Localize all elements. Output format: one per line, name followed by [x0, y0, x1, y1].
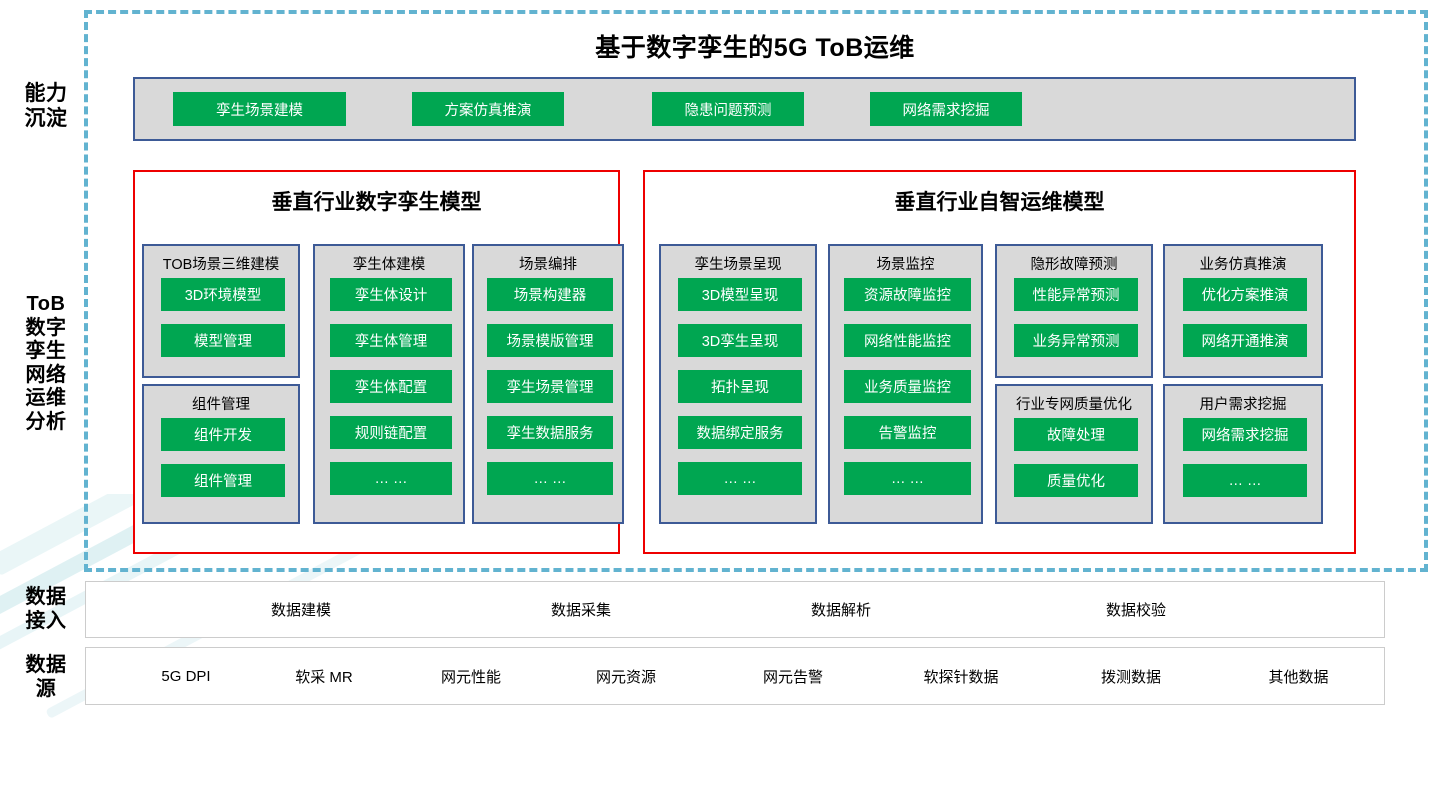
item-chip-label: … … — [1228, 473, 1261, 489]
item-chip-label: 性能异常预测 — [1033, 284, 1120, 305]
rail-line: 分析 — [12, 411, 80, 435]
group-user-demand-mining: 用户需求挖掘 网络需求挖掘 … … — [1163, 384, 1323, 524]
item-chip[interactable]: 组件开发 — [161, 418, 285, 451]
group-heading: TOB场景三维建模 — [144, 253, 298, 274]
capability-chip-label: 隐患问题预测 — [685, 99, 772, 120]
group-twin-entity-modeling: 孪生体建模 孪生体设计 孪生体管理 孪生体配置 规则链配置 … … — [313, 244, 465, 524]
group-twin-scene-presentation: 孪生场景呈现 3D模型呈现 3D孪生呈现 拓扑呈现 数据绑定服务 … … — [659, 244, 817, 524]
item-chip[interactable]: 模型管理 — [161, 324, 285, 357]
item-chip[interactable]: 业务异常预测 — [1014, 324, 1138, 357]
item-chip-label: 3D孪生呈现 — [702, 330, 779, 351]
group-scene-monitoring: 场景监控 资源故障监控 网络性能监控 业务质量监控 告警监控 … … — [828, 244, 983, 524]
rail-line: 能力 — [12, 82, 80, 107]
capability-chip-4[interactable]: 网络需求挖掘 — [870, 92, 1022, 126]
item-chip-label: 组件管理 — [194, 470, 252, 491]
data-source-cell[interactable]: 拨测数据 — [1051, 648, 1211, 704]
item-chip[interactable]: 孪生场景管理 — [487, 370, 613, 403]
group-scene-orchestration: 场景编排 场景构建器 场景模版管理 孪生场景管理 孪生数据服务 … … — [472, 244, 624, 524]
data-source-label: 软探针数据 — [923, 666, 998, 687]
rail-line: 网络 — [12, 364, 80, 388]
item-chip[interactable]: 告警监控 — [844, 416, 971, 449]
item-chip[interactable]: 优化方案推演 — [1183, 278, 1307, 311]
data-source-cell[interactable]: 软探针数据 — [876, 648, 1046, 704]
capability-chip-2[interactable]: 方案仿真推演 — [412, 92, 564, 126]
item-chip[interactable]: 3D模型呈现 — [678, 278, 802, 311]
data-source-label: 拨测数据 — [1101, 666, 1161, 687]
item-chip[interactable]: 规则链配置 — [330, 416, 452, 449]
item-chip-label: 场景模版管理 — [507, 330, 594, 351]
data-access-cell[interactable]: 数据解析 — [736, 582, 946, 637]
capability-chip-label: 孪生场景建模 — [216, 99, 303, 120]
item-chip-label: 规则链配置 — [355, 422, 428, 443]
item-chip-label: 3D环境模型 — [185, 284, 262, 305]
item-chip-label: 3D模型呈现 — [702, 284, 779, 305]
item-chip[interactable]: … … — [844, 462, 971, 495]
panel-title: 垂直行业自智运维模型 — [645, 186, 1354, 216]
item-chip-label: 资源故障监控 — [864, 284, 951, 305]
item-chip-label: 质量优化 — [1047, 470, 1105, 491]
data-source-label: 网元性能 — [441, 666, 501, 687]
group-heading: 孪生体建模 — [315, 253, 463, 274]
item-chip-label: 模型管理 — [194, 330, 252, 351]
group-heading: 场景编排 — [474, 253, 622, 274]
group-heading: 隐形故障预测 — [997, 253, 1151, 274]
item-chip-label: 孪生体配置 — [355, 376, 428, 397]
item-chip-label: 网络性能监控 — [864, 330, 951, 351]
item-chip[interactable]: 场景模版管理 — [487, 324, 613, 357]
item-chip-label: 业务质量监控 — [864, 376, 951, 397]
item-chip-label: 孪生数据服务 — [507, 422, 594, 443]
data-source-cell[interactable]: 网元性能 — [391, 648, 551, 704]
item-chip[interactable]: 孪生体管理 — [330, 324, 452, 357]
rail-line: ToB — [12, 293, 80, 317]
capability-chip-1[interactable]: 孪生场景建模 — [173, 92, 346, 126]
item-chip-label: 网络开通推演 — [1202, 330, 1289, 351]
item-chip-label: … … — [723, 471, 756, 487]
item-chip-label: 优化方案推演 — [1202, 284, 1289, 305]
item-chip-label: 故障处理 — [1047, 424, 1105, 445]
data-source-cell[interactable]: 网元资源 — [546, 648, 706, 704]
rail-line: 数字 — [12, 317, 80, 341]
capability-chip-label: 网络需求挖掘 — [903, 99, 990, 120]
item-chip-label: 数据绑定服务 — [697, 422, 784, 443]
data-access-label: 数据校验 — [1106, 599, 1166, 620]
item-chip-label: 孪生体设计 — [355, 284, 428, 305]
group-heading: 组件管理 — [144, 393, 298, 414]
data-access-label: 数据建模 — [271, 599, 331, 620]
item-chip[interactable]: 业务质量监控 — [844, 370, 971, 403]
item-chip[interactable]: 3D孪生呈现 — [678, 324, 802, 357]
data-source-row: 5G DPI 软采 MR 网元性能 网元资源 网元告警 软探针数据 拨测数据 其… — [85, 647, 1385, 705]
data-source-label: 软采 MR — [295, 666, 353, 687]
rail-line: 接入 — [12, 610, 80, 634]
item-chip[interactable]: 场景构建器 — [487, 278, 613, 311]
group-private-network-quality: 行业专网质量优化 故障处理 质量优化 — [995, 384, 1153, 524]
group-hidden-fault-prediction: 隐形故障预测 性能异常预测 业务异常预测 — [995, 244, 1153, 378]
item-chip[interactable]: 资源故障监控 — [844, 278, 971, 311]
group-heading: 行业专网质量优化 — [997, 393, 1151, 414]
rail-label-tob-analysis: ToB 数字 孪生 网络 运维 分析 — [12, 293, 80, 435]
group-tob-3d-modeling: TOB场景三维建模 3D环境模型 模型管理 — [142, 244, 300, 378]
item-chip[interactable]: 3D环境模型 — [161, 278, 285, 311]
capability-chip-label: 方案仿真推演 — [445, 99, 532, 120]
item-chip[interactable]: … … — [487, 462, 613, 495]
rail-line: 沉淀 — [12, 107, 80, 132]
capability-strip: 孪生场景建模 方案仿真推演 隐患问题预测 网络需求挖掘 — [133, 77, 1356, 141]
item-chip[interactable]: 网络开通推演 — [1183, 324, 1307, 357]
data-access-cell[interactable]: 数据建模 — [196, 582, 406, 637]
panel-digital-twin-model: 垂直行业数字孪生模型 TOB场景三维建模 3D环境模型 模型管理 组件管理 组件… — [133, 170, 620, 554]
data-source-label: 其他数据 — [1268, 666, 1328, 687]
panel-autonomous-ops-model: 垂直行业自智运维模型 孪生场景呈现 3D模型呈现 3D孪生呈现 拓扑呈现 数据绑… — [643, 170, 1356, 554]
item-chip[interactable]: 质量优化 — [1014, 464, 1138, 497]
item-chip-label: 孪生体管理 — [355, 330, 428, 351]
data-access-label: 数据采集 — [551, 599, 611, 620]
group-heading: 业务仿真推演 — [1165, 253, 1321, 274]
rail-line: 源 — [12, 678, 80, 702]
panel-title: 垂直行业数字孪生模型 — [135, 186, 618, 216]
item-chip-label: 场景构建器 — [514, 284, 587, 305]
data-source-label: 网元资源 — [596, 666, 656, 687]
group-component-management: 组件管理 组件开发 组件管理 — [142, 384, 300, 524]
rail-label-data-access: 数据 接入 — [12, 586, 80, 633]
item-chip-label: … … — [374, 471, 407, 487]
data-source-cell[interactable]: 网元告警 — [713, 648, 873, 704]
item-chip-label: 组件开发 — [194, 424, 252, 445]
data-access-label: 数据解析 — [811, 599, 871, 620]
rail-line: 孪生 — [12, 340, 80, 364]
rail-line: 运维 — [12, 387, 80, 411]
data-source-label: 网元告警 — [763, 666, 823, 687]
rail-label-data-source: 数据 源 — [12, 654, 80, 701]
item-chip-label: 拓扑呈现 — [711, 376, 769, 397]
item-chip[interactable]: 网络性能监控 — [844, 324, 971, 357]
data-source-cell[interactable]: 其他数据 — [1216, 648, 1381, 704]
item-chip[interactable]: 拓扑呈现 — [678, 370, 802, 403]
group-heading: 用户需求挖掘 — [1165, 393, 1321, 414]
group-business-simulation: 业务仿真推演 优化方案推演 网络开通推演 — [1163, 244, 1323, 378]
data-source-cell[interactable]: 5G DPI — [106, 648, 266, 704]
item-chip-label: 业务异常预测 — [1033, 330, 1120, 351]
item-chip[interactable]: 组件管理 — [161, 464, 285, 497]
capability-chip-3[interactable]: 隐患问题预测 — [652, 92, 804, 126]
item-chip[interactable]: 孪生数据服务 — [487, 416, 613, 449]
data-source-label: 5G DPI — [161, 668, 210, 685]
item-chip[interactable]: 故障处理 — [1014, 418, 1138, 451]
data-access-cell[interactable]: 数据采集 — [476, 582, 686, 637]
item-chip[interactable]: … … — [678, 462, 802, 495]
item-chip[interactable]: 性能异常预测 — [1014, 278, 1138, 311]
item-chip-label: … … — [891, 471, 924, 487]
group-heading: 场景监控 — [830, 253, 981, 274]
item-chip-label: … … — [533, 471, 566, 487]
item-chip[interactable]: 孪生体设计 — [330, 278, 452, 311]
data-access-row: 数据建模 数据采集 数据解析 数据校验 — [85, 581, 1385, 638]
rail-label-capability: 能力 沉淀 — [12, 82, 80, 132]
item-chip-label: 孪生场景管理 — [507, 376, 594, 397]
data-source-cell[interactable]: 软采 MR — [244, 648, 404, 704]
item-chip[interactable]: … … — [330, 462, 452, 495]
rail-line: 数据 — [12, 654, 80, 678]
item-chip[interactable]: 孪生体配置 — [330, 370, 452, 403]
page-title: 基于数字孪生的5G ToB运维 — [100, 28, 1410, 64]
item-chip-label: 告警监控 — [879, 422, 937, 443]
group-heading: 孪生场景呈现 — [661, 253, 815, 274]
data-access-cell[interactable]: 数据校验 — [1031, 582, 1241, 637]
item-chip[interactable]: 数据绑定服务 — [678, 416, 802, 449]
rail-line: 数据 — [12, 586, 80, 610]
item-chip[interactable]: 网络需求挖掘 — [1183, 418, 1307, 451]
item-chip[interactable]: … … — [1183, 464, 1307, 497]
item-chip-label: 网络需求挖掘 — [1202, 424, 1289, 445]
